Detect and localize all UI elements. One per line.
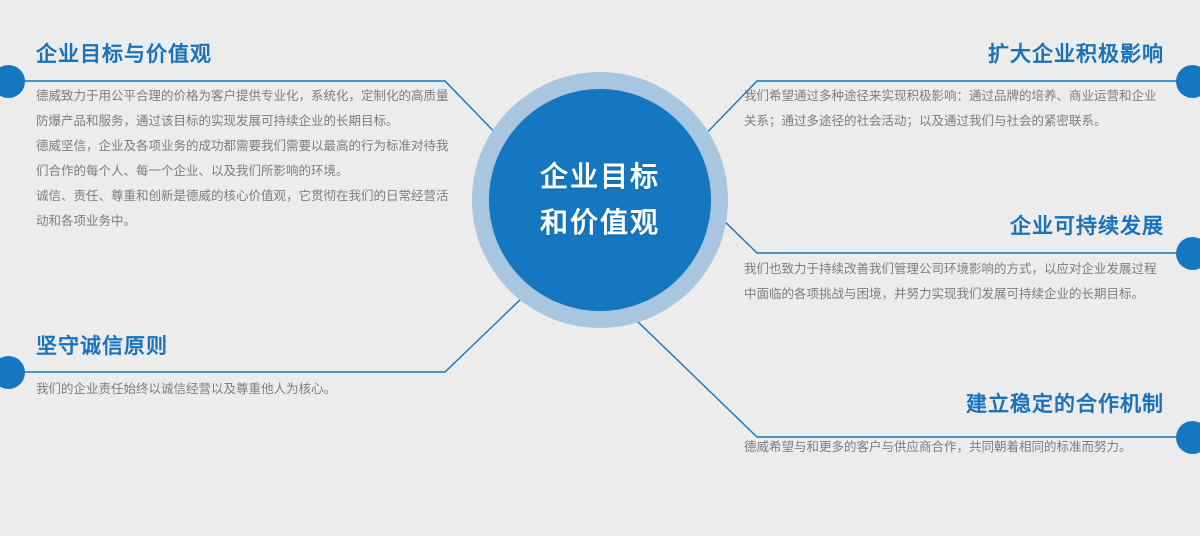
center-hub-line1: 企业目标 [540,154,660,200]
block-sustain-title: 企业可持续发展 [744,210,1164,240]
block-partner[interactable]: 建立稳定的合作机制 德威希望与和更多的客户与供应商合作，共同朝着相同的标准而努力… [744,388,1164,460]
dot-sustain [1176,237,1200,270]
block-goals-body: 德威致力于用公平合理的价格为客户提供专业化，系统化，定制化的高质量防爆产品和服务… [36,84,456,234]
dot-partner [1176,421,1200,454]
dot-integrity [0,356,25,389]
center-hub-line2: 和价值观 [540,200,660,246]
block-goals[interactable]: 企业目标与价值观 德威致力于用公平合理的价格为客户提供专业化，系统化，定制化的高… [36,38,456,234]
block-partner-body: 德威希望与和更多的客户与供应商合作，共同朝着相同的标准而努力。 [744,435,1164,460]
block-integrity-title: 坚守诚信原则 [36,330,456,360]
block-goals-title: 企业目标与价值观 [36,38,456,68]
block-impact-title: 扩大企业积极影响 [744,38,1164,68]
dot-goals [0,65,25,98]
block-partner-title: 建立稳定的合作机制 [744,388,1164,418]
block-sustain[interactable]: 企业可持续发展 我们也致力于持续改善我们管理公司环境影响的方式，以应对企业发展过… [744,210,1164,307]
block-impact[interactable]: 扩大企业积极影响 我们希望通过多种途径来实现积极影响：通过品牌的培养、商业运营和… [744,38,1164,134]
dot-impact [1176,65,1200,98]
block-sustain-body: 我们也致力于持续改善我们管理公司环境影响的方式，以应对企业发展过程中面临的各项挑… [744,257,1164,307]
block-impact-body: 我们希望通过多种途径来实现积极影响：通过品牌的培养、商业运营和企业关系；通过多途… [744,84,1164,134]
infographic-canvas: 企业目标 和价值观 企业目标与价值观 德威致力于用公平合理的价格为客户提供专业化… [0,0,1200,536]
block-integrity[interactable]: 坚守诚信原则 我们的企业责任始终以诚信经营以及尊重他人为核心。 [36,330,456,402]
block-integrity-body: 我们的企业责任始终以诚信经营以及尊重他人为核心。 [36,377,456,402]
center-hub-core: 企业目标 和价值观 [489,89,711,311]
